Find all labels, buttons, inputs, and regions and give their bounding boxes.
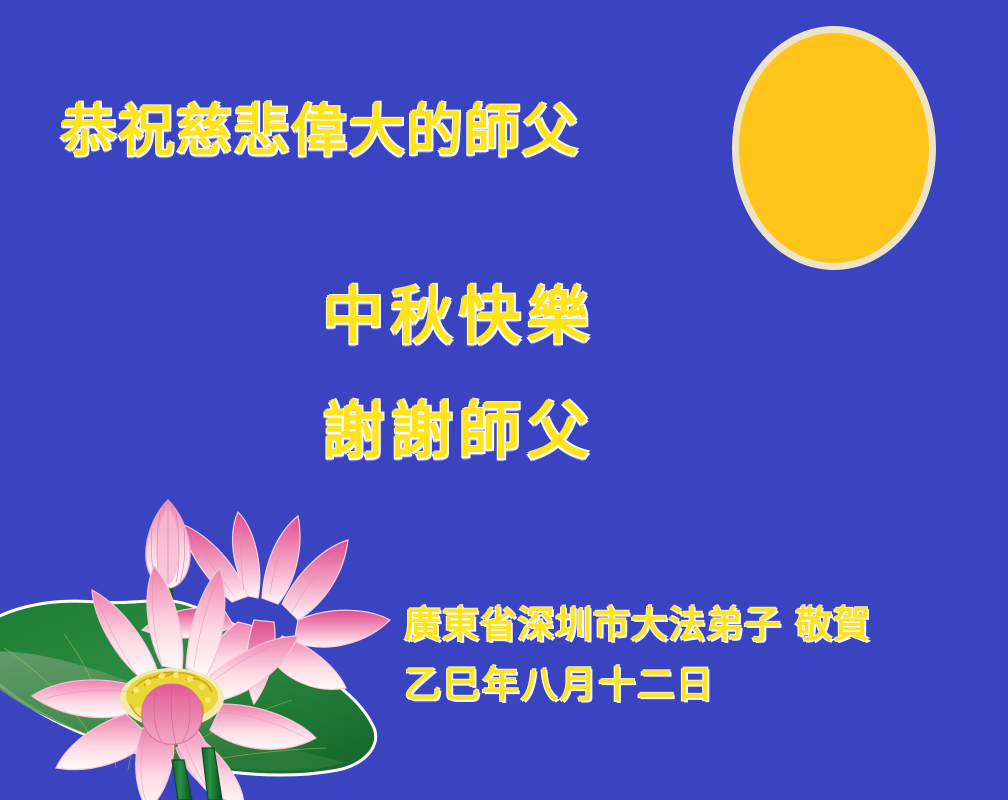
signature-date: 乙巳年八月十二日 (404, 666, 715, 703)
signature-organization: 廣東省深圳市大法弟子 敬賀 (404, 606, 871, 643)
greeting-wish-line-2: 謝謝師父 (322, 400, 595, 462)
greeting-title: 恭祝慈悲偉大的師父 (60, 104, 579, 160)
greeting-wish-line-1: 中秋快樂 (322, 285, 595, 347)
mid-autumn-greeting-card: 恭祝慈悲偉大的師父 中秋快樂 謝謝師父 廣東省深圳市大法弟子 敬賀 乙巳年八月十… (0, 0, 1008, 800)
full-moon-icon (732, 26, 936, 270)
lotus-flowers-illustration (0, 470, 406, 800)
